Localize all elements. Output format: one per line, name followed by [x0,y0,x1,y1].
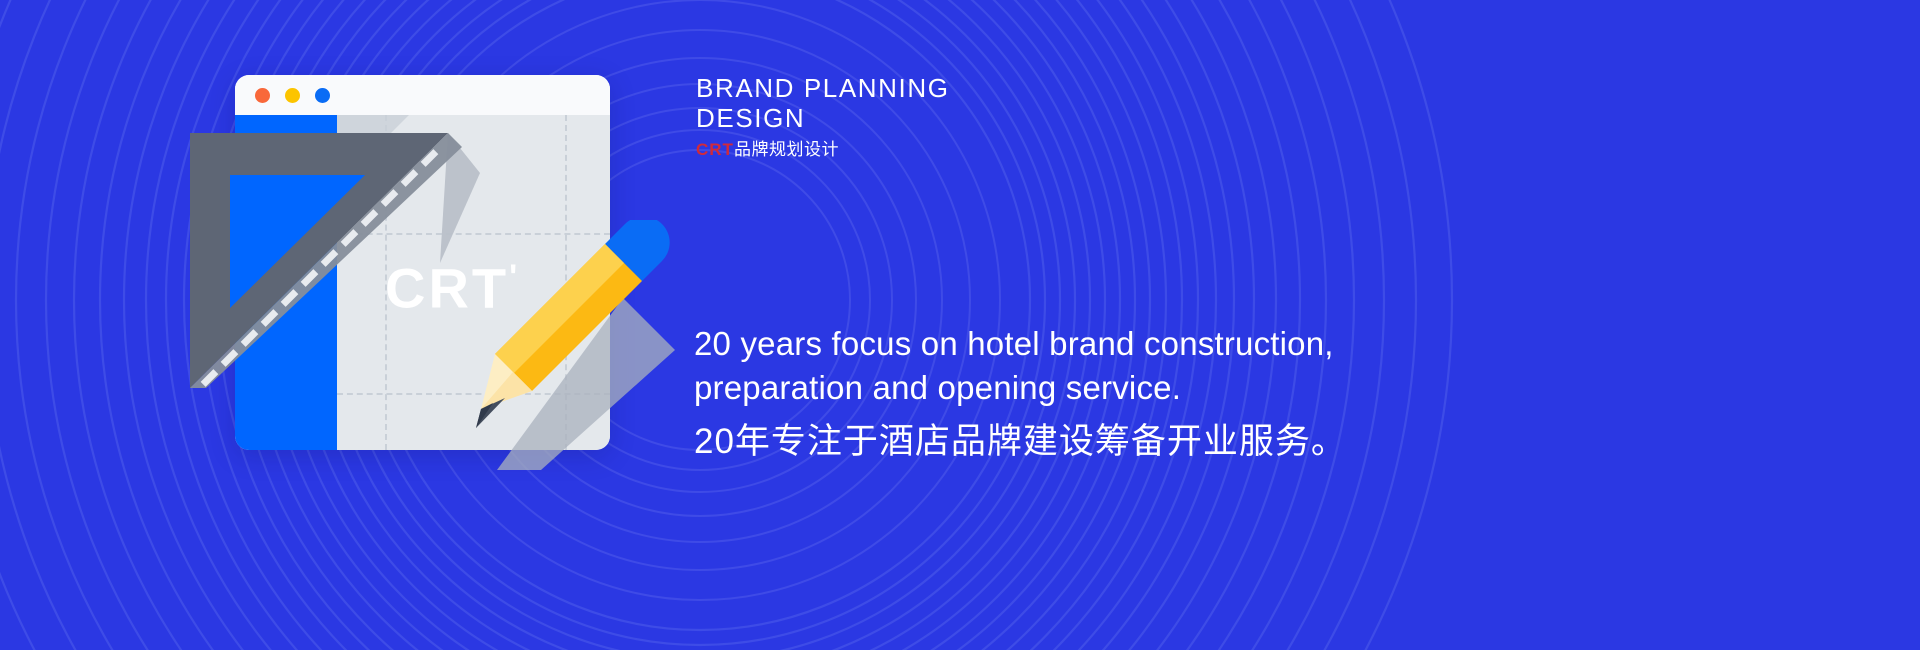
window-close-dot-icon [255,88,270,103]
heading-block: BRAND PLANNING DESIGN CRT品牌规划设计 [696,74,1516,161]
tagline-block: 20 years focus on hotel brand constructi… [694,322,1844,465]
hero-banner: CRT' [0,0,1920,650]
brand-design-illustration: CRT' [190,75,690,465]
window-titlebar [235,75,610,115]
heading-chinese-line: CRT品牌规划设计 [696,139,1516,161]
window-minimize-dot-icon [285,88,300,103]
tagline-chinese: 20年专注于酒店品牌建设筹备开业服务。 [694,418,1844,465]
heading-brand-prefix: CRT [696,140,734,159]
tagline-english: 20 years focus on hotel brand constructi… [694,322,1844,410]
window-maximize-dot-icon [315,88,330,103]
set-square-ruler-icon [190,133,480,388]
heading-english: BRAND PLANNING DESIGN [696,74,1516,133]
pencil-icon [475,220,685,470]
heading-chinese: 品牌规划设计 [734,140,839,159]
